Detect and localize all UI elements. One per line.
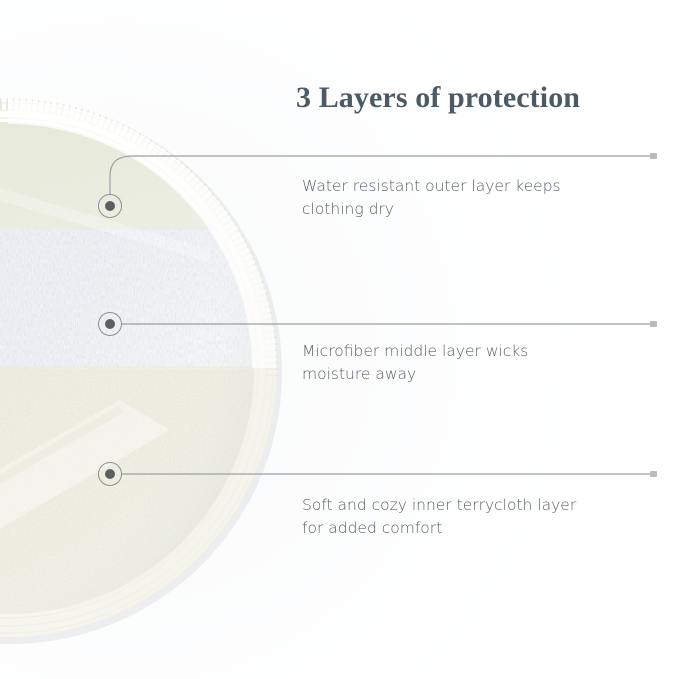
connector-endcap-1 (650, 153, 657, 159)
callout-text-outer-layer: Water resistant outer layer keeps clothi… (302, 175, 632, 221)
infographic-canvas: 3 Layers of protection Water resistant o… (0, 0, 679, 679)
callout-line: clothing dry (302, 198, 632, 221)
page-title: 3 Layers of protection (296, 81, 656, 115)
connector-endcap-3 (650, 471, 657, 477)
layer-marker-middle[interactable] (98, 312, 122, 336)
layer-marker-inner[interactable] (98, 462, 122, 486)
callout-line: Water resistant outer layer keeps (302, 175, 632, 198)
callout-line: moisture away (302, 363, 632, 386)
callout-text-inner-layer: Soft and cozy inner terrycloth layer for… (302, 494, 632, 540)
callout-text-middle-layer: Microfiber middle layer wicks moisture a… (302, 340, 632, 386)
callout-line: Microfiber middle layer wicks (302, 340, 632, 363)
callout-line: for added comfort (302, 517, 632, 540)
layer-marker-outer[interactable] (98, 194, 122, 218)
callout-line: Soft and cozy inner terrycloth layer (302, 494, 632, 517)
connector-endcap-2 (650, 321, 657, 327)
